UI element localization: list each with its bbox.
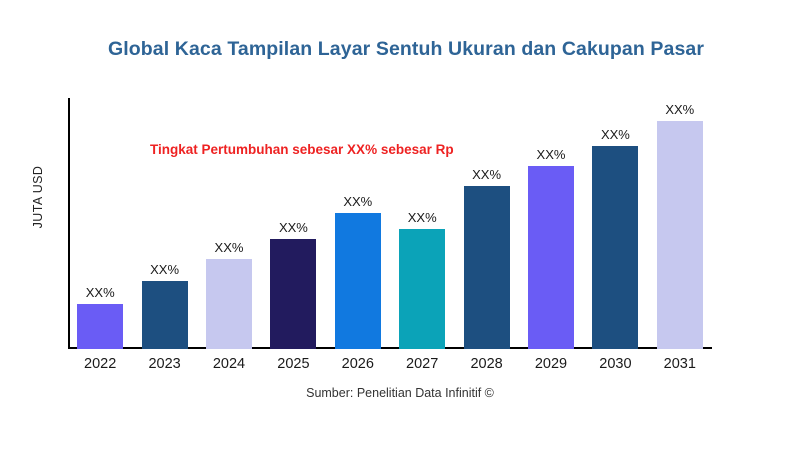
bar-value-label: XX% [215, 240, 244, 255]
bar-value-label: XX% [343, 194, 372, 209]
bar[interactable] [592, 146, 638, 349]
y-axis-line [68, 98, 70, 349]
bar[interactable] [206, 259, 252, 349]
bar-group: XX%2029 [528, 98, 574, 349]
bar-group: XX%2031 [657, 98, 703, 349]
bar-group: XX%2030 [592, 98, 638, 349]
x-axis-tick-label: 2030 [599, 356, 631, 372]
bar[interactable] [399, 229, 445, 349]
bar-value-label: XX% [537, 147, 566, 162]
bar[interactable] [657, 121, 703, 349]
x-axis-tick-label: 2031 [664, 356, 696, 372]
x-axis-tick-label: 2028 [470, 356, 502, 372]
bar[interactable] [335, 213, 381, 349]
x-axis-tick-label: 2025 [277, 356, 309, 372]
plot-area: XX%2022XX%2023XX%2024XX%2025XX%2026XX%20… [68, 98, 712, 349]
bar-group: XX%2024 [206, 98, 252, 349]
bar-value-label: XX% [408, 210, 437, 225]
x-axis-tick-label: 2027 [406, 356, 438, 372]
bar[interactable] [464, 186, 510, 349]
bar-chart: Global Kaca Tampilan Layar Sentuh Ukuran… [0, 0, 800, 450]
x-axis-tick-label: 2026 [342, 356, 374, 372]
source-note: Sumber: Penelitian Data Infinitif © [0, 386, 800, 400]
y-axis-title: JUTA USD [31, 137, 45, 257]
bar-value-label: XX% [150, 262, 179, 277]
bar-group: XX%2026 [335, 98, 381, 349]
x-axis-tick-label: 2022 [84, 356, 116, 372]
bar[interactable] [142, 281, 188, 349]
x-axis-tick-label: 2023 [148, 356, 180, 372]
bar-group: XX%2022 [77, 98, 123, 349]
bar[interactable] [270, 239, 316, 349]
bar[interactable] [528, 166, 574, 349]
bar[interactable] [77, 304, 123, 349]
bar-group: XX%2028 [464, 98, 510, 349]
x-axis-tick-label: 2029 [535, 356, 567, 372]
bar-group: XX%2025 [270, 98, 316, 349]
chart-title: Global Kaca Tampilan Layar Sentuh Ukuran… [108, 38, 704, 61]
x-axis-tick-label: 2024 [213, 356, 245, 372]
bar-value-label: XX% [601, 127, 630, 142]
bar-value-label: XX% [472, 167, 501, 182]
bar-value-label: XX% [86, 285, 115, 300]
bar-value-label: XX% [665, 102, 694, 117]
bar-group: XX%2027 [399, 98, 445, 349]
bar-value-label: XX% [279, 220, 308, 235]
bar-group: XX%2023 [142, 98, 188, 349]
